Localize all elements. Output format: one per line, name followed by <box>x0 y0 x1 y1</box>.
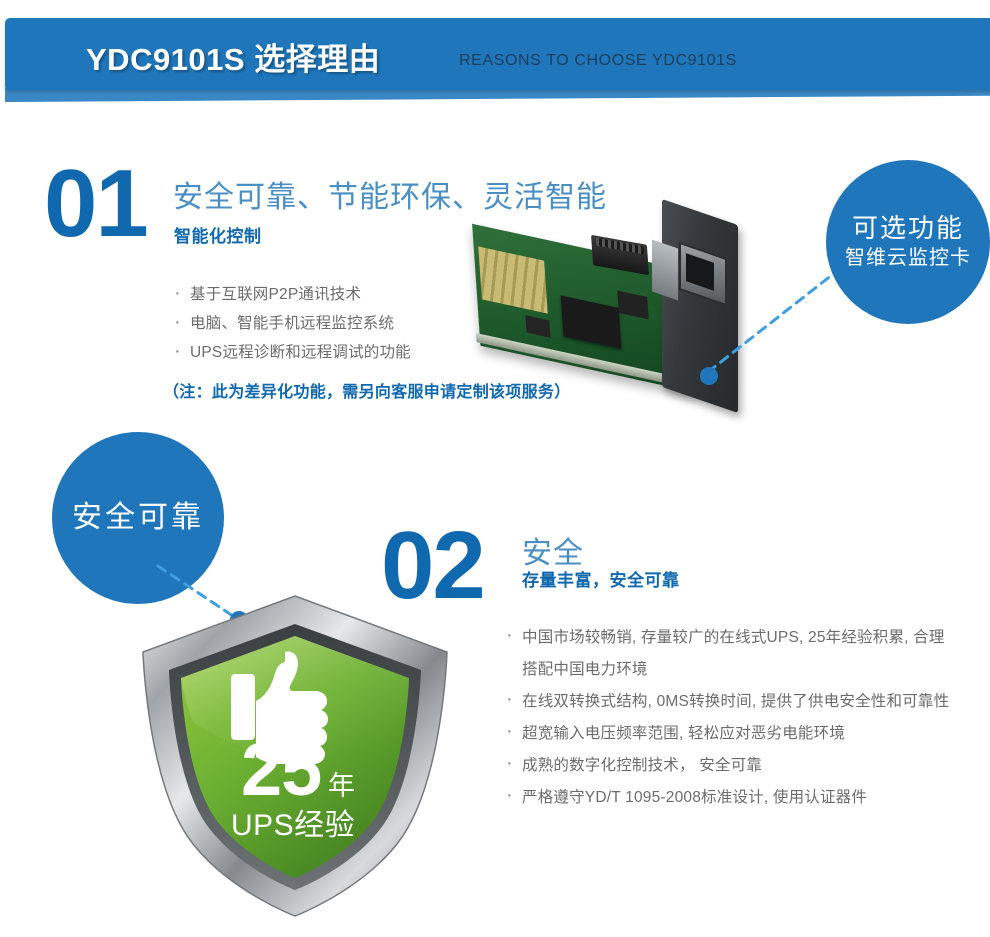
section-01-bullet-list: 基于互联网P2P通讯技术 电脑、智能手机远程监控系统 UPS远程诊断和远程调试的… <box>172 280 502 367</box>
section-02-subtitle: 存量丰富，安全可靠 <box>522 566 680 591</box>
shield-caption: UPS经验 <box>231 809 355 842</box>
callout-line-1: 安全可靠 <box>72 500 204 537</box>
shield-years-number: 25 <box>241 728 321 811</box>
page-title: YDC9101S 选择理由 <box>86 34 380 79</box>
ups-experience-shield-badge: 25 年 UPS经验 <box>135 590 455 920</box>
list-item: 在线双转换式结构, 0MS转换时间, 提供了供电安全性和可靠性 <box>504 686 954 718</box>
section-number-01: 01 <box>44 156 147 252</box>
list-item: UPS远程诊断和远程调试的功能 <box>172 338 502 367</box>
product-feature-page: YDC9101S 选择理由 REASONS TO CHOOSE YDC9101S… <box>0 0 990 937</box>
list-item: 严格遵守YD/T 1095-2008标准设计, 使用认证器件 <box>504 782 954 814</box>
rj45-shield-tab <box>652 240 678 301</box>
list-item: 超宽输入电压频率范围, 轻松应对恶劣电能环境 <box>504 718 954 750</box>
section-number-02: 02 <box>381 518 484 614</box>
list-item: 成熟的数字化控制技术， 安全可靠 <box>504 750 954 782</box>
list-item: 中国市场较畅销, 存量较广的在线式UPS, 25年经验积累, 合理搭配中国电力环… <box>504 622 954 686</box>
banner-slant-decoration <box>5 88 990 102</box>
callout-optional-function: 可选功能 智维云监控卡 <box>826 160 990 324</box>
list-item: 电脑、智能手机远程监控系统 <box>172 309 502 338</box>
shield-graphic: 25 年 UPS经验 <box>135 590 455 920</box>
callout-line-2: 智维云监控卡 <box>845 245 971 271</box>
section-02-bullet-list: 中国市场较畅销, 存量较广的在线式UPS, 25年经验积累, 合理搭配中国电力环… <box>504 622 954 814</box>
callout-line-1: 可选功能 <box>852 213 964 245</box>
section-01-subtitle: 智能化控制 <box>174 222 262 247</box>
shield-years-unit: 年 <box>328 771 355 801</box>
page-subtitle-english: REASONS TO CHOOSE YDC9101S <box>459 52 737 70</box>
list-item: 基于互联网P2P通讯技术 <box>172 280 502 309</box>
connector-dot-on-card <box>700 367 718 385</box>
